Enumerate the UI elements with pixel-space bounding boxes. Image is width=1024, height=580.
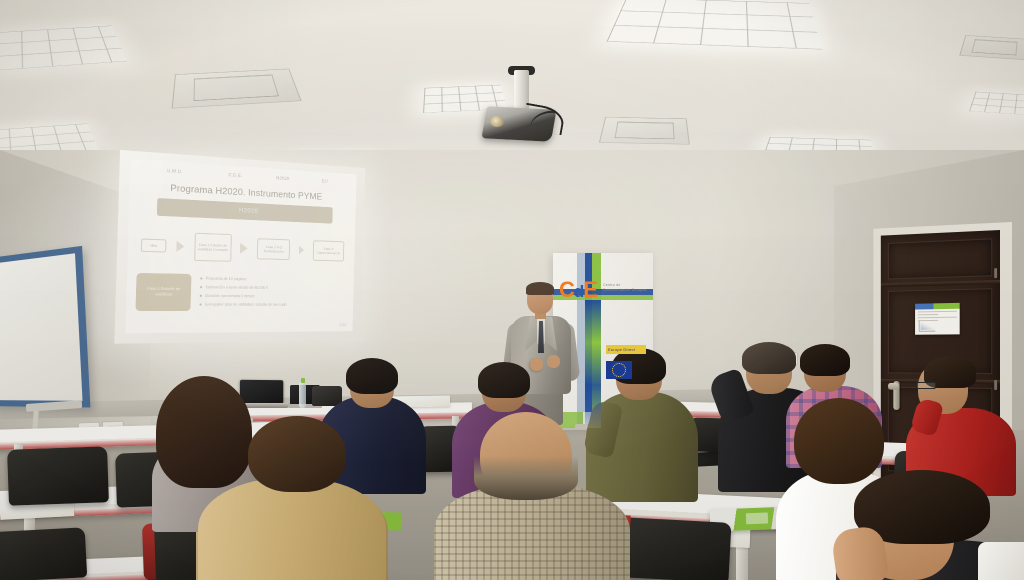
slide-bullet: Subvención a tanto alzado de 50.000 €: [200, 285, 346, 291]
chair[interactable]: [0, 527, 87, 580]
person-man-check-shirt: [434, 408, 634, 580]
poster-line: [918, 311, 957, 313]
water-bottle[interactable]: [299, 382, 306, 408]
flow-arrow-2-icon: [241, 243, 249, 254]
chair[interactable]: [7, 446, 109, 505]
projection-screen: U.M.U. C.D.E. H2020 EU Programa H2020. I…: [114, 150, 365, 344]
slide: U.M.U. C.D.E. H2020 EU Programa H2020. I…: [125, 159, 356, 334]
person-man-dark-hair-foreground: [836, 470, 1024, 580]
slide-flow-diagram: Idea Fase 1 Estudio de viabilidad Concep…: [137, 226, 348, 269]
projector: [478, 62, 570, 144]
shirt-collar-white: [978, 542, 1024, 580]
slide-banner-bar: H2020: [157, 198, 333, 224]
hair-short-dark: [346, 358, 398, 394]
door-rail-top: [881, 280, 1000, 287]
cde-tagline: Centro de Documentación Europea: [603, 283, 647, 293]
eu-flag-badge: [606, 361, 632, 379]
presenter-hair: [526, 282, 554, 295]
flow-step-idea: Idea: [141, 238, 167, 252]
poster-chart-icon: [919, 321, 936, 332]
slide-footer-logo: CDE: [339, 323, 347, 327]
slide-logo-1: U.M.U.: [167, 168, 183, 175]
flow-step-phase3: Fase 3 Comercialización: [313, 240, 345, 261]
slide-bullet-list: Propuesta de 10 páginas Subvención a tan…: [199, 274, 346, 311]
slide-body: Fase 1 Estudio de viabilidad Propuesta d…: [135, 273, 346, 311]
hair-brown-wavy: [248, 416, 346, 492]
presenter-hand-right: [547, 355, 560, 368]
door-panel-upper: [888, 238, 992, 279]
flow-arrow-3-icon: [299, 246, 304, 254]
door-notice-poster: [915, 303, 960, 335]
person-woman-dark-hair-front: [198, 416, 390, 580]
glasses-icon: [916, 382, 936, 389]
poster-line: [918, 314, 938, 316]
europe-direct-label: Europe Direct: [606, 345, 646, 352]
cde-logo: CdE: [559, 279, 597, 301]
screenshot-root: U.M.U. C.D.E. H2020 EU Programa H2020. I…: [0, 0, 1024, 580]
body-dark-top: [198, 478, 386, 580]
slide-logo-2: C.D.E.: [228, 172, 242, 178]
projector-lens: [490, 116, 504, 127]
whiteboard: [0, 246, 90, 408]
slide-bullet: Entregable: plan de viabilidad / estudio…: [199, 302, 345, 307]
europe-direct-badge: Europe Direct: [606, 345, 646, 354]
flow-step-phase2: Fase 2 I+D Demostración: [257, 238, 290, 260]
poster-line: [918, 317, 957, 319]
hair-short-dark: [800, 344, 850, 376]
slide-bullet: Duración aproximada 6 meses: [200, 293, 346, 299]
flow-arrow-1-icon: [176, 241, 184, 252]
slide-bullet: Propuesta de 10 páginas: [200, 276, 346, 283]
cde-logo-e: E: [583, 277, 597, 302]
slide-phase-tag: Fase 1 Estudio de viabilidad: [135, 273, 191, 311]
hair-grey-fringe: [474, 456, 578, 500]
chair[interactable]: [619, 517, 732, 580]
flow-step-phase1: Fase 1 Estudio de viabilidad Concepto: [194, 233, 232, 262]
slide-logo-3: H2020: [276, 175, 289, 181]
door-hinge-top: [994, 268, 997, 278]
cde-logo-c: C: [559, 277, 574, 302]
hair-short-dark: [478, 362, 530, 398]
slide-logo-4: EU: [322, 178, 328, 183]
cde-logo-d: d: [574, 282, 583, 301]
